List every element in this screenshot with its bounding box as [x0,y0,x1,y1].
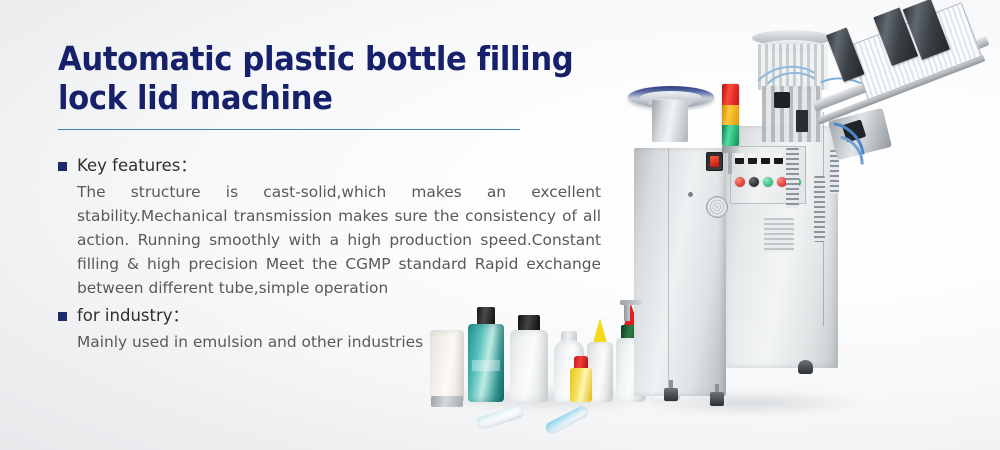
machine-caster [798,360,813,374]
machine-cabinet-left [634,148,726,396]
vent-grille-icon [764,218,794,252]
emergency-stop-switch [706,152,723,171]
bullet-label: for industry： [77,305,189,327]
title-line-2: lock lid machine [58,78,333,117]
tower-lamp-green [722,125,739,146]
fan-vent-icon [706,196,728,218]
bullet-square-icon [58,162,67,171]
product-banner: Automatic plastic bottle filling lock li… [0,0,1000,450]
machine-foot [710,392,724,406]
page-title: Automatic plastic bottle filling lock li… [58,40,579,117]
push-button-black [749,177,759,187]
signal-tower-pole [728,152,732,174]
bottle-teal-flask [468,324,504,402]
bullet-label: Key features： [77,155,197,177]
bullet-row: Key features： [58,155,618,177]
bowl-feeder-pedestal [652,100,688,142]
filling-machine-image [618,0,1000,450]
inclined-tube-magazine [814,18,1000,168]
push-button-red [735,177,745,187]
bottle-white-black-cap [510,330,548,402]
piston-spring [786,148,799,208]
selector-knob [735,153,744,164]
feature-block-key-features: Key features： The structure is cast-soli… [58,155,618,300]
push-button-green [763,177,773,187]
title-divider [58,129,520,130]
side-bracket-stem [624,305,630,321]
feature-body-text: The structure is cast-solid,which makes … [77,180,601,300]
piston-spring [814,176,825,242]
tower-lamp-red [722,84,739,105]
selector-knob [761,153,770,164]
selector-knob [748,153,757,164]
bullet-square-icon [58,312,67,321]
title-line-1: Automatic plastic bottle filling [58,39,573,78]
machine-foot [664,388,678,401]
signal-tower-light [722,84,739,146]
bottle-cream-tube [430,330,464,402]
selector-knob [774,153,783,164]
text-column: Automatic plastic bottle filling lock li… [58,40,618,117]
tower-lamp-amber [722,105,739,126]
